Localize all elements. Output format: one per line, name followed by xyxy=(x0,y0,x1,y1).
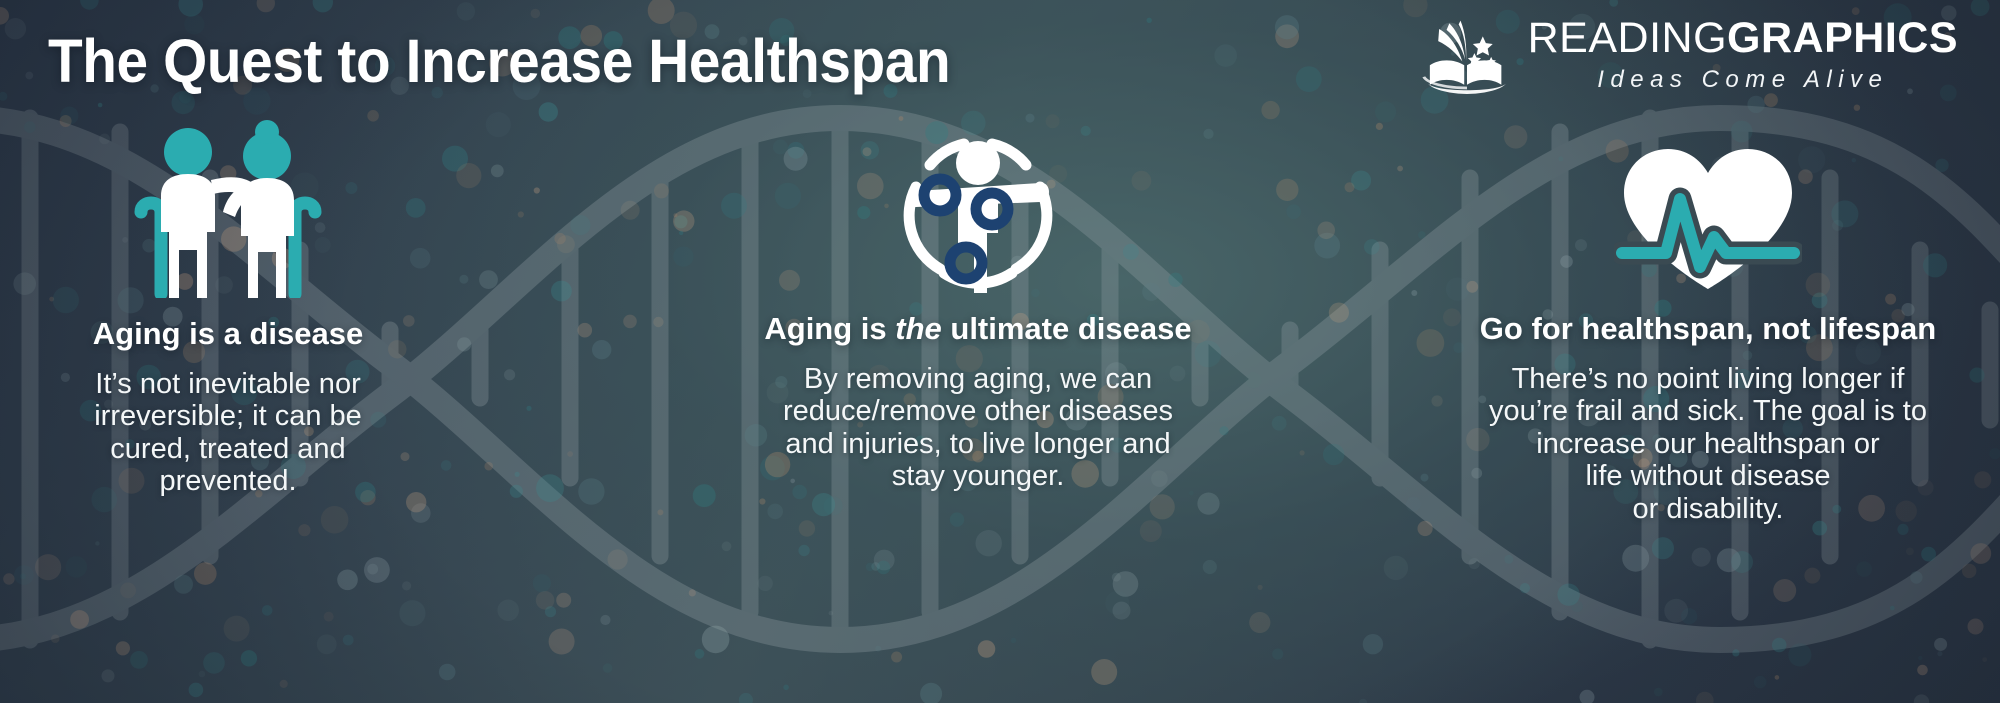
column-3-body: There’s no point living longer if you’re… xyxy=(1448,363,1968,525)
column-aging-is-the-ultimate-disease: Aging is the ultimate disease By removin… xyxy=(698,118,1258,703)
logo-tagline: Ideas Come Alive xyxy=(1597,66,1888,94)
column-go-for-healthspan: Go for healthspan, not lifespan There’s … xyxy=(1428,118,1988,703)
logo-word-graphics: GRAPHICS xyxy=(1727,14,1958,62)
columns-container: Aging is a disease It’s not inevitable n… xyxy=(0,118,2000,703)
column-2-body: By removing aging, we can reduce/remove … xyxy=(728,363,1228,493)
column-1-heading: Aging is a disease xyxy=(93,316,364,352)
logo-text-block: READINGGRAPHICS Ideas Come Alive xyxy=(1528,17,1958,94)
brand-logo[interactable]: READINGGRAPHICS Ideas Come Alive xyxy=(1420,16,1958,94)
column-2-heading-post: ultimate disease xyxy=(942,311,1192,346)
logo-word-reading: READING xyxy=(1528,14,1727,62)
elderly-couple-icon xyxy=(123,120,333,298)
column-2-heading-emphasis: the xyxy=(895,311,942,346)
column-3-icon-wrap xyxy=(1614,118,1802,293)
column-2-icon-wrap xyxy=(892,118,1064,293)
header: The Quest to Increase Healthspan xyxy=(0,0,2000,130)
vitruvian-human-figure-icon xyxy=(892,121,1064,293)
heart-with-heartbeat-icon xyxy=(1614,141,1802,293)
infographic-canvas: The Quest to Increase Healthspan xyxy=(0,0,2000,703)
column-1-body: It’s not inevitable nor irreversible; it… xyxy=(63,368,393,498)
page-title: The Quest to Increase Healthspan xyxy=(48,26,950,96)
open-book-with-stars-icon xyxy=(1420,16,1514,94)
column-aging-is-a-disease: Aging is a disease It’s not inevitable n… xyxy=(18,118,438,703)
logo-wordmark: READINGGRAPHICS xyxy=(1528,17,1958,60)
column-1-icon-wrap xyxy=(123,118,333,298)
column-2-heading-pre: Aging is xyxy=(764,311,895,346)
column-2-heading: Aging is the ultimate disease xyxy=(764,311,1191,347)
column-3-heading: Go for healthspan, not lifespan xyxy=(1480,311,1936,347)
